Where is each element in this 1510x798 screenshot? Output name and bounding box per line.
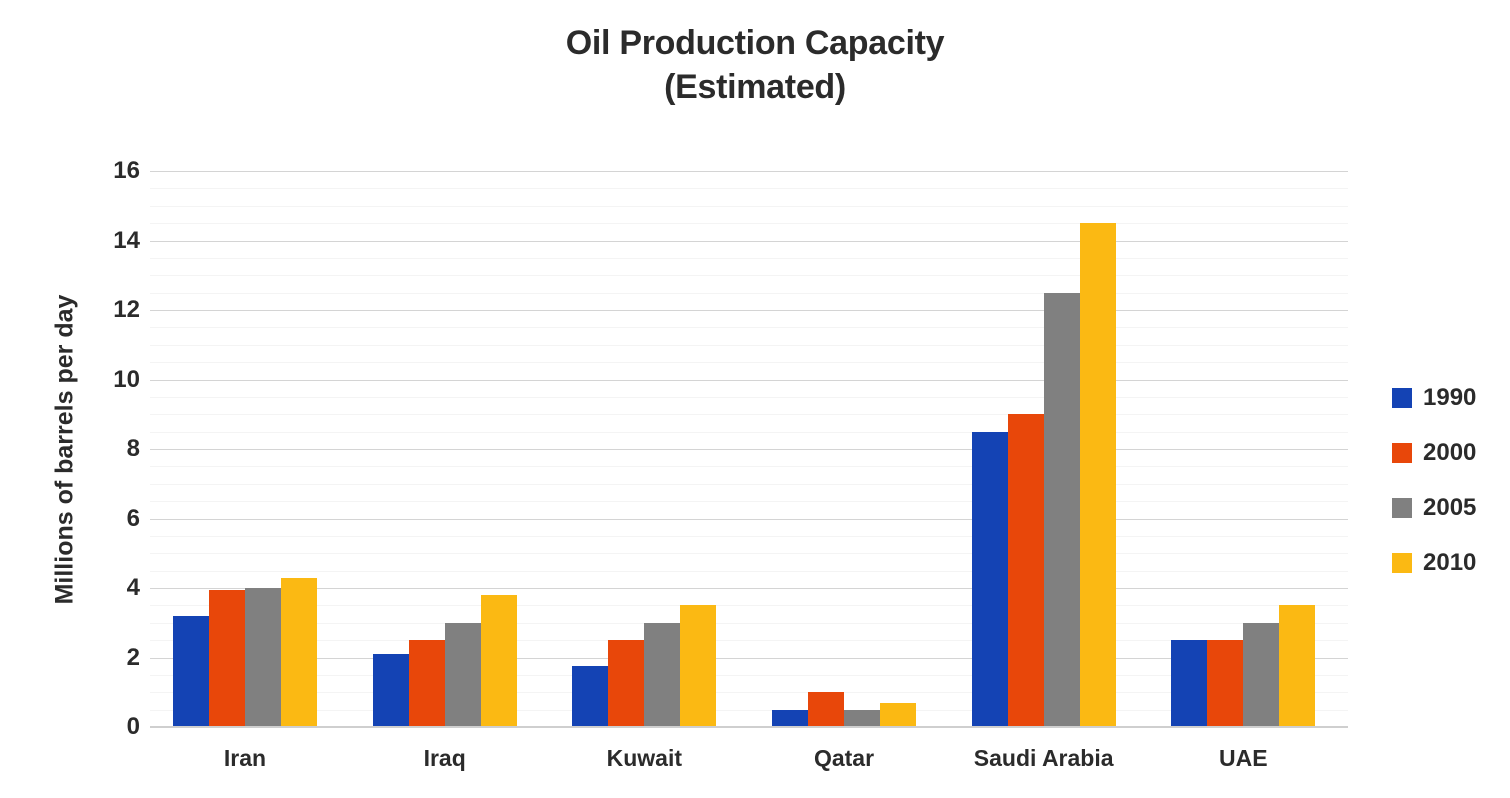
chart-legend: 1990200020052010 [1392,370,1504,590]
legend-swatch-icon [1392,388,1412,408]
bar-group [972,171,1116,727]
legend-item[interactable]: 2005 [1392,480,1504,535]
x-axis-category-label: Kuwait [607,745,682,772]
legend-swatch-icon [1392,498,1412,518]
bar-chart: Oil Production Capacity (Estimated) Mill… [0,0,1510,798]
bar[interactable] [972,432,1008,727]
bar[interactable] [445,623,481,727]
bar[interactable] [281,578,317,727]
bar[interactable] [409,640,445,727]
x-axis-line [150,726,1348,728]
bar[interactable] [608,640,644,727]
bar-group [572,171,716,727]
y-axis-tick-label: 8 [70,435,140,463]
chart-title: Oil Production Capacity (Estimated) [0,22,1510,109]
bar-group [373,171,517,727]
x-axis-category-label: Iran [224,745,266,772]
x-axis-category-label: UAE [1219,745,1268,772]
y-axis-tick-label: 12 [70,296,140,324]
bar[interactable] [1080,223,1116,727]
legend-label: 2005 [1423,496,1476,520]
y-axis-tick-label: 16 [70,157,140,185]
bar-group [772,171,916,727]
legend-item[interactable]: 1990 [1392,370,1504,425]
bar[interactable] [1044,293,1080,727]
bar[interactable] [1008,414,1044,727]
bar-groups [150,171,1348,727]
x-axis-category-label: Qatar [814,745,874,772]
bar[interactable] [680,605,716,727]
bar[interactable] [481,595,517,727]
y-axis-tick-label: 14 [70,227,140,255]
legend-swatch-icon [1392,443,1412,463]
chart-title-line-1: Oil Production Capacity [566,24,945,62]
bar[interactable] [1171,640,1207,727]
x-axis-category-label: Saudi Arabia [974,745,1114,772]
bar[interactable] [644,623,680,727]
bar[interactable] [844,710,880,727]
bar-group [173,171,317,727]
y-axis-tick-labels: 0246810121416 [70,171,140,727]
y-axis-tick-label: 6 [70,505,140,533]
chart-title-line-2: (Estimated) [0,66,1510,110]
y-axis-tick-label: 10 [70,366,140,394]
y-axis-tick-label: 2 [70,644,140,672]
legend-label: 1990 [1423,386,1476,410]
bar[interactable] [173,616,209,727]
bar[interactable] [880,703,916,727]
bar-group [1171,171,1315,727]
bar[interactable] [1243,623,1279,727]
plot-area [150,171,1348,727]
bar[interactable] [209,590,245,727]
legend-label: 2010 [1423,551,1476,575]
x-axis-category-label: Iraq [424,745,466,772]
bar[interactable] [772,710,808,727]
bar[interactable] [808,692,844,727]
legend-label: 2000 [1423,441,1476,465]
bar[interactable] [245,588,281,727]
bar[interactable] [1207,640,1243,727]
y-axis-tick-label: 4 [70,574,140,602]
bar[interactable] [572,666,608,727]
bar[interactable] [373,654,409,727]
legend-item[interactable]: 2010 [1392,535,1504,590]
y-axis-tick-label: 0 [70,713,140,741]
legend-swatch-icon [1392,553,1412,573]
bar[interactable] [1279,605,1315,727]
legend-item[interactable]: 2000 [1392,425,1504,480]
x-axis-category-labels: IranIraqKuwaitQatarSaudi ArabiaUAE [150,745,1348,787]
